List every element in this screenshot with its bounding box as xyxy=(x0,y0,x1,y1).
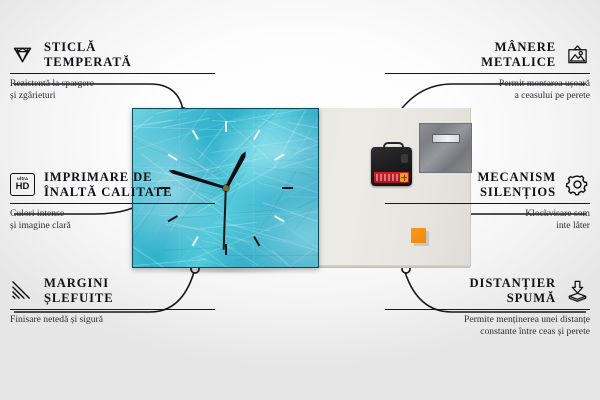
feature-title: MÂNERE METALICE xyxy=(481,40,556,69)
picture-frame-icon xyxy=(565,43,590,66)
infographic-canvas: STICLĂ TEMPERATĂ Rezistentă la spargere … xyxy=(0,0,600,400)
feature-title: DISTANȚIER SPUMĂ xyxy=(470,276,556,305)
ultra-hd-icon: ultra HD xyxy=(10,173,35,196)
feature-header: MÂNERE METALICE xyxy=(385,40,590,69)
feature-header: MARGINI ȘLEFUITE xyxy=(10,276,215,305)
feature-subtitle-line1: Permit montarea ușoară xyxy=(499,78,590,89)
feature-subtitle: Finisare netedă și sigură xyxy=(10,314,215,326)
feature-title-line1: STICLĂ xyxy=(44,40,96,54)
feature-subtitle-line1: Klockvisare som xyxy=(525,208,590,219)
feature-subtitle: Klockvisare som inte låter xyxy=(385,208,590,231)
diamond-icon xyxy=(10,43,35,66)
feature-subtitle: Culori intense și imagine clară xyxy=(10,208,215,231)
feature-high-quality-print: ultra HD IMPRIMARE DE ÎNALTĂ CALITATE Cu… xyxy=(10,170,215,231)
feature-header: MECANISM SILENȚIOS xyxy=(385,170,590,199)
feature-title-line1: MÂNERE xyxy=(495,40,556,54)
feature-divider xyxy=(10,203,215,204)
ultra-hd-large-text: HD xyxy=(16,182,30,192)
center-cap xyxy=(223,185,229,191)
feature-divider xyxy=(385,203,590,204)
feature-title-line2: SPUMĂ xyxy=(507,291,556,305)
feature-title-line1: MARGINI xyxy=(44,276,109,290)
feature-subtitle-line2: constante între ceas și perete xyxy=(480,326,590,337)
feature-title-line2: ÎNALTĂ CALITATE xyxy=(44,185,172,199)
feature-title-line2: TEMPERATĂ xyxy=(44,55,132,69)
feature-subtitle: Permite menținerea unei distanțe constan… xyxy=(385,314,590,337)
feature-subtitle: Permit montarea ușoară a ceasului pe per… xyxy=(385,78,590,101)
feature-metal-handles: MÂNERE METALICE Permit montarea ușoară a… xyxy=(385,40,590,101)
feature-header: STICLĂ TEMPERATĂ xyxy=(10,40,215,69)
mechanism-knob xyxy=(401,154,408,163)
feature-subtitle: Rezistentă la spargere și zgârieturi xyxy=(10,78,215,101)
feature-subtitle-line2: și imagine clară xyxy=(10,220,71,231)
feature-subtitle-line1: Culori intense xyxy=(10,208,64,219)
feature-subtitle-line2: a ceasului pe perete xyxy=(515,90,590,101)
feature-foam-spacer: DISTANȚIER SPUMĂ Permite menținerea unei… xyxy=(385,276,590,337)
feature-title-line1: IMPRIMARE DE xyxy=(44,170,152,184)
feature-subtitle-line2: și zgârieturi xyxy=(10,90,56,101)
feature-divider xyxy=(385,309,590,310)
feature-subtitle-line1: Rezistentă la spargere xyxy=(10,78,94,89)
feature-divider xyxy=(10,73,215,74)
feature-subtitle-line1: Permite menținerea unei distanțe xyxy=(464,314,590,325)
feature-subtitle-line1: Finisare netedă și sigură xyxy=(10,314,103,325)
feature-title-line2: SILENȚIOS xyxy=(480,185,556,199)
feature-title: IMPRIMARE DE ÎNALTĂ CALITATE xyxy=(44,170,172,199)
feature-tempered-glass: STICLĂ TEMPERATĂ Rezistentă la spargere … xyxy=(10,40,215,101)
feature-divider xyxy=(385,73,590,74)
feature-title: MECANISM SILENȚIOS xyxy=(477,170,556,199)
mechanism-loop xyxy=(383,142,404,153)
diagonal-lines-icon xyxy=(10,279,35,302)
metal-hanger-icon xyxy=(419,123,472,173)
feature-polished-edges: MARGINI ȘLEFUITE Finisare netedă și sigu… xyxy=(10,276,215,326)
feature-title-line2: METALICE xyxy=(481,55,556,69)
feature-divider xyxy=(10,309,215,310)
feature-subtitle-line2: inte låter xyxy=(556,220,590,231)
feature-title-line1: MECANISM xyxy=(477,170,556,184)
feature-title-line1: DISTANȚIER xyxy=(470,276,556,290)
feature-silent-mechanism: MECANISM SILENȚIOS Klockvisare som inte … xyxy=(385,170,590,231)
feature-header: ultra HD IMPRIMARE DE ÎNALTĂ CALITATE xyxy=(10,170,215,199)
feature-header: DISTANȚIER SPUMĂ xyxy=(385,276,590,305)
press-down-icon xyxy=(565,279,590,302)
hanger-slot xyxy=(432,134,460,143)
feature-title: MARGINI ȘLEFUITE xyxy=(44,276,114,305)
feature-title-line2: ȘLEFUITE xyxy=(44,291,114,305)
feature-title: STICLĂ TEMPERATĂ xyxy=(44,40,132,69)
gear-icon xyxy=(565,173,590,196)
